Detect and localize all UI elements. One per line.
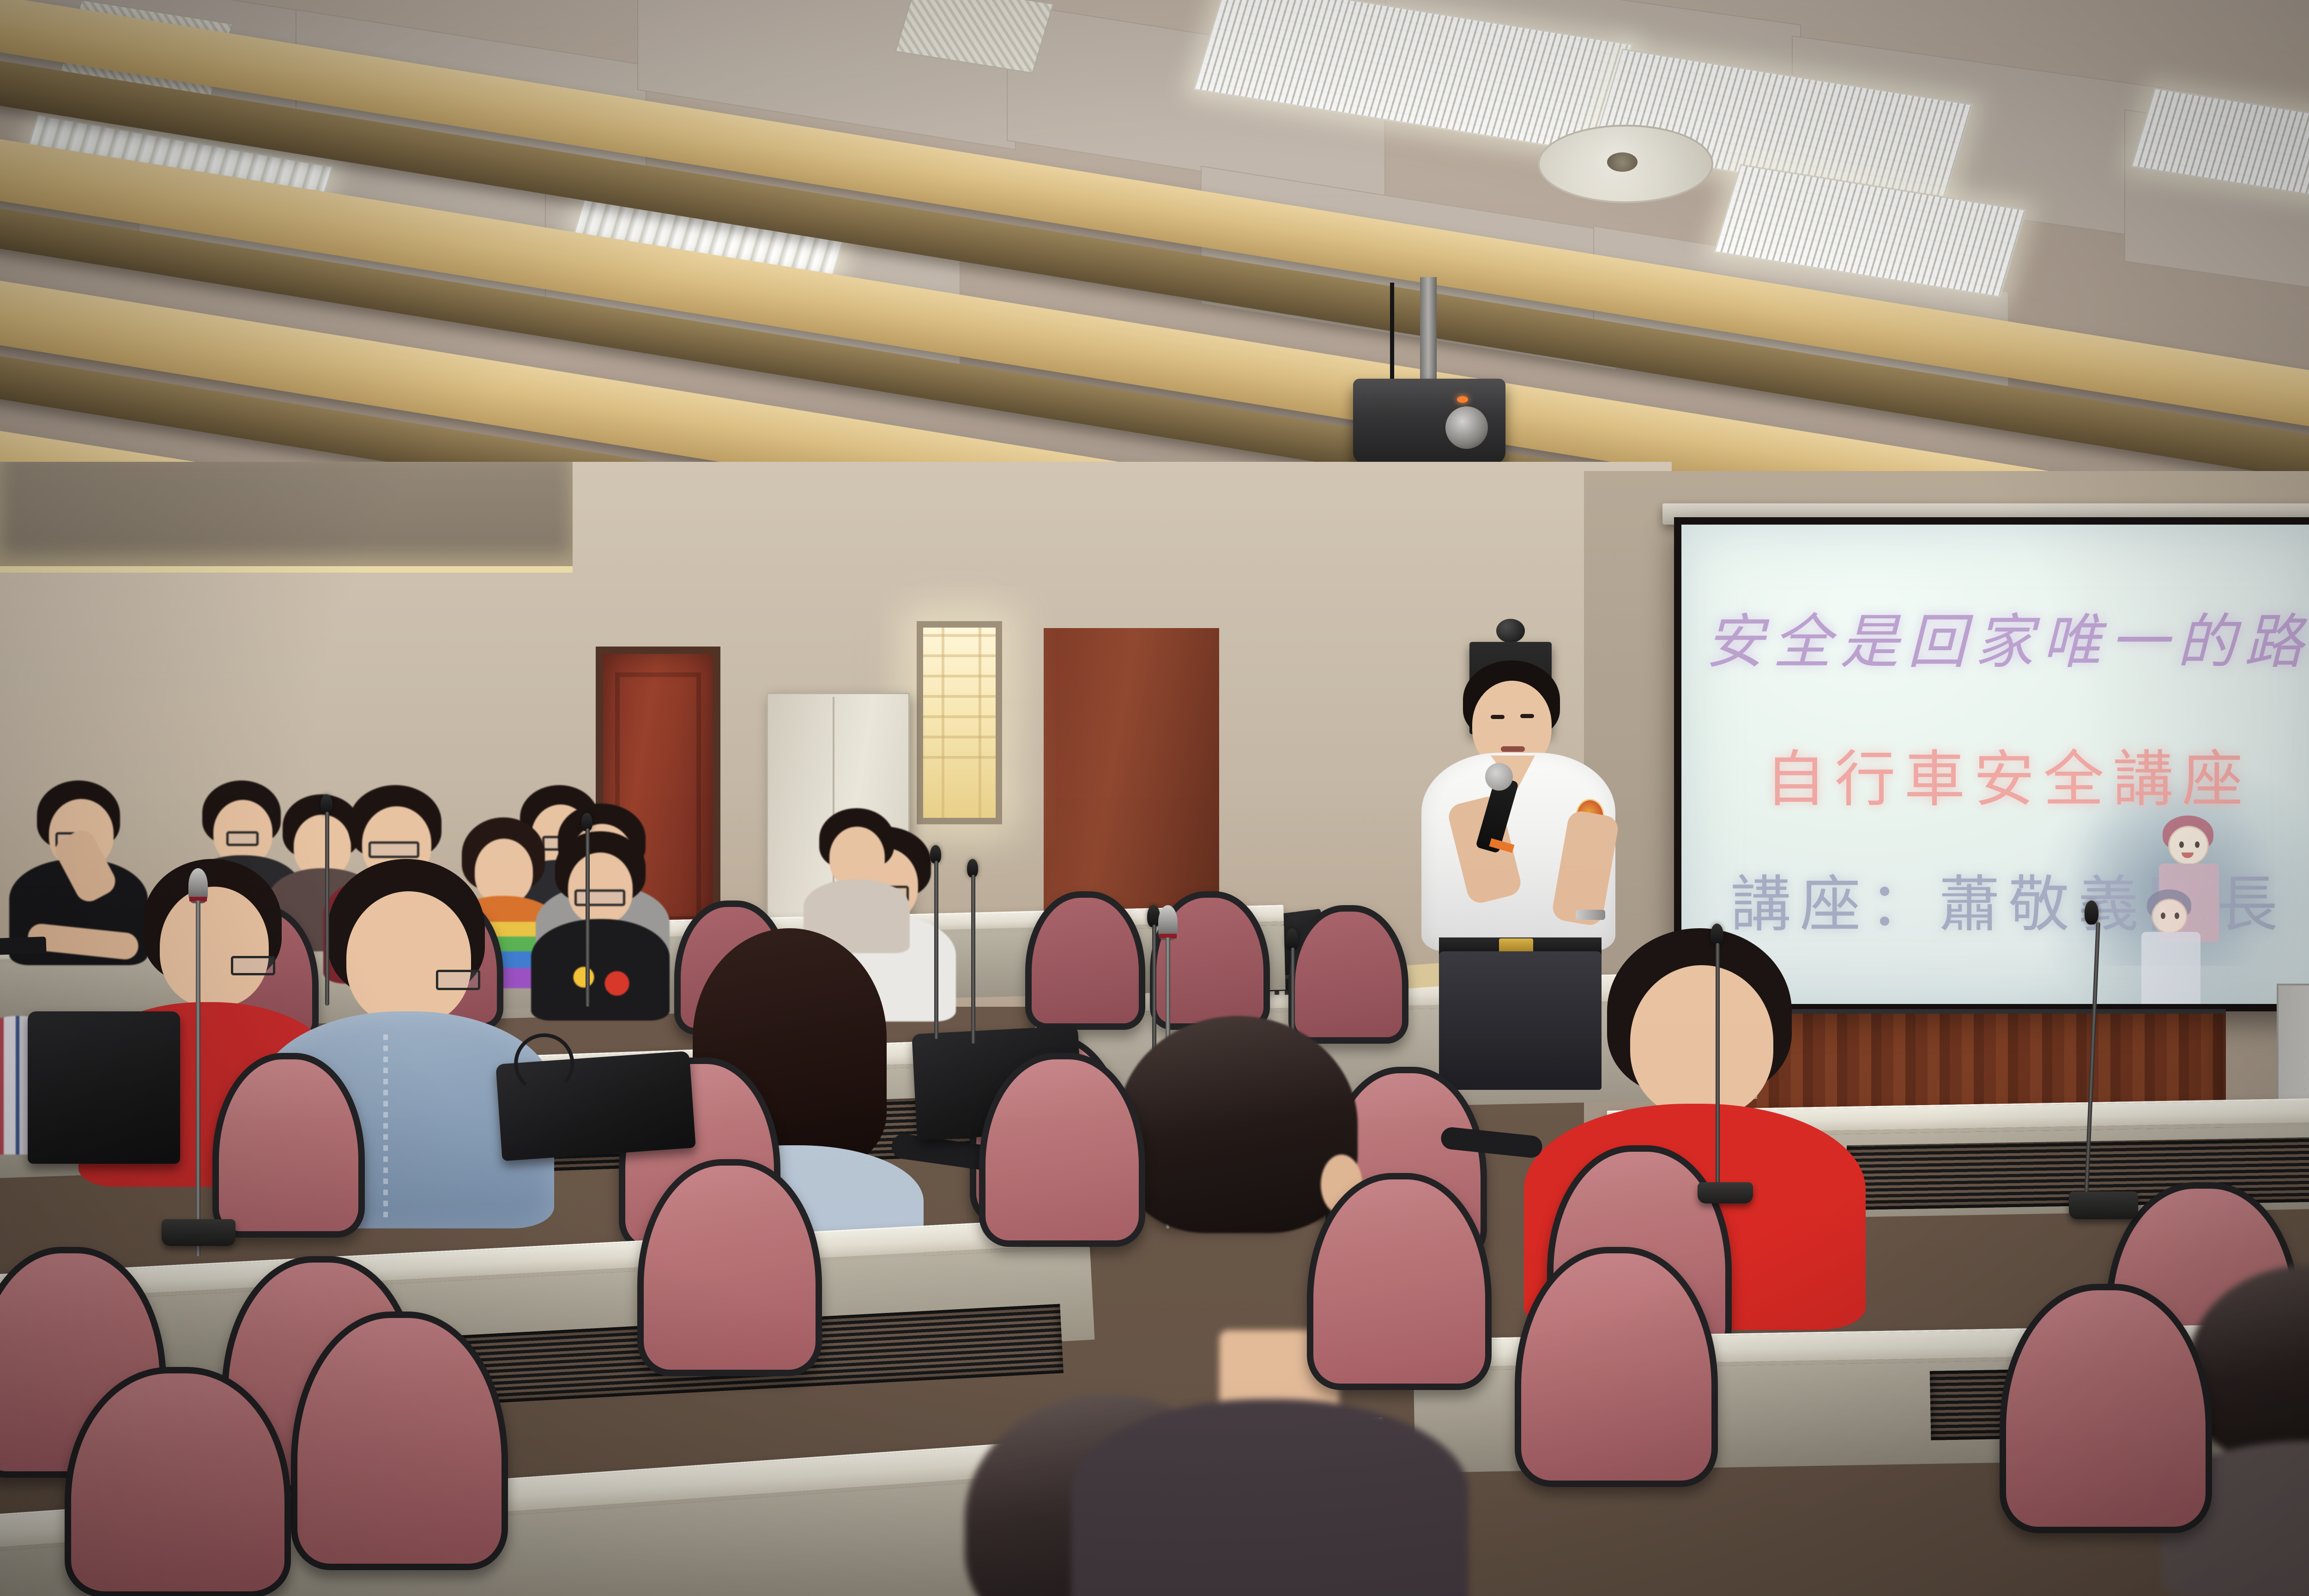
backpack-foreground — [28, 1011, 180, 1164]
lecture-room-photo: 安全是回家唯一的路 自行車安全講座 講座：蕭敬義隊長 — [0, 0, 2309, 1596]
chair[interactable] — [291, 1312, 508, 1570]
microphone-head — [1485, 763, 1513, 791]
presenter-mouth — [1501, 746, 1525, 752]
desk-microphone-right-screen[interactable] — [2083, 901, 2107, 1224]
desk-microphone-right-far[interactable] — [1709, 924, 1730, 1201]
wall-recess-upper-left — [0, 462, 573, 573]
chair[interactable] — [637, 1159, 822, 1376]
chair[interactable] — [2000, 1284, 2212, 1533]
presenter-wristwatch — [1576, 910, 1605, 920]
angry-birds-print — [559, 961, 642, 1002]
slide-title-line: 安全是回家唯一的路 — [1681, 594, 2309, 679]
phone-on-desk — [0, 937, 47, 955]
presenter-eye-left — [1491, 715, 1505, 719]
presenter-eye-right — [1520, 714, 1534, 718]
ceiling-smoke-detector — [1607, 152, 1638, 172]
slide-subtitle-line: 自行車安全講座 — [1681, 730, 2309, 818]
chair[interactable] — [212, 1053, 365, 1238]
desk-microphone-window-a[interactable] — [928, 845, 947, 1039]
denim-seam — [383, 1034, 388, 1219]
chair[interactable] — [979, 1053, 1145, 1247]
desk-microphone-back-right[interactable] — [580, 813, 598, 1007]
desk-microphone-window-b[interactable] — [965, 859, 984, 1044]
projector-status-led — [1457, 396, 1468, 403]
chair[interactable] — [1025, 891, 1145, 1030]
chair[interactable] — [65, 1367, 291, 1596]
student-back-right — [804, 808, 910, 947]
desk-microphone-front-left[interactable] — [180, 868, 204, 1247]
chair[interactable] — [1307, 1173, 1492, 1390]
window — [917, 621, 1002, 824]
speaker-mount — [1496, 619, 1525, 643]
chair[interactable] — [1515, 1247, 1718, 1487]
slide-cartoon-child-small — [2139, 889, 2208, 1004]
desk-microphone-back-left[interactable] — [319, 794, 337, 1007]
backpack-on-desk — [496, 1051, 696, 1161]
charcoal-tee-torso — [1071, 1399, 1469, 1596]
projector-lens — [1445, 406, 1488, 449]
